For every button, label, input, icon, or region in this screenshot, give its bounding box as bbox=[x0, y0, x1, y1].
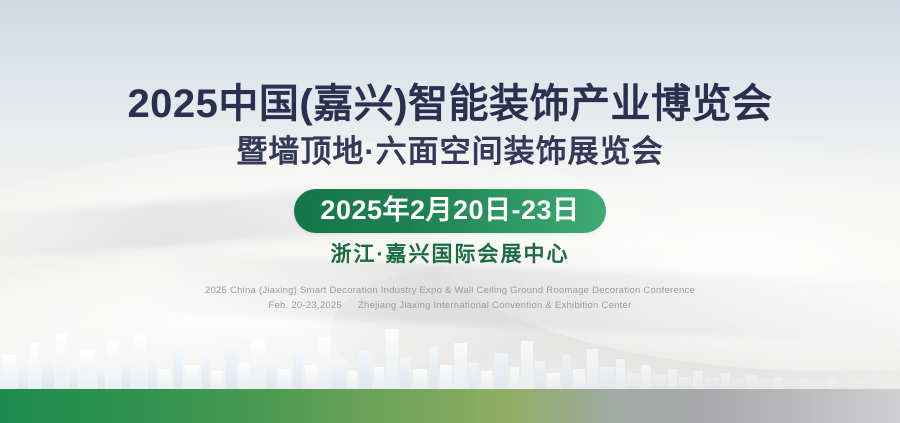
english-date: Feb. 20-23,2025 bbox=[269, 300, 342, 311]
english-subtitle-block: 2025 China (Jiaxing) Smart Decoration In… bbox=[205, 284, 695, 313]
english-title-line: 2025 China (Jiaxing) Smart Decoration In… bbox=[205, 284, 695, 299]
event-banner: 2025中国(嘉兴)智能装饰产业博览会 暨墙顶地·六面空间装饰展览会 2025年… bbox=[0, 0, 900, 423]
english-date-venue-line: Feb. 20-23,2025Zhejiang Jiaxing Internat… bbox=[205, 299, 695, 314]
event-title-sub: 暨墙顶地·六面空间装饰展览会 bbox=[236, 136, 663, 167]
english-venue: Zhejiang Jiaxing International Conventio… bbox=[358, 300, 632, 311]
banner-content: 2025中国(嘉兴)智能装饰产业博览会 暨墙顶地·六面空间装饰展览会 2025年… bbox=[0, 0, 900, 423]
event-title-main: 2025中国(嘉兴)智能装饰产业博览会 bbox=[127, 84, 772, 124]
event-venue: 浙江·嘉兴国际会展中心 bbox=[331, 244, 570, 265]
event-date-badge: 2025年2月20日-23日 bbox=[294, 189, 605, 233]
